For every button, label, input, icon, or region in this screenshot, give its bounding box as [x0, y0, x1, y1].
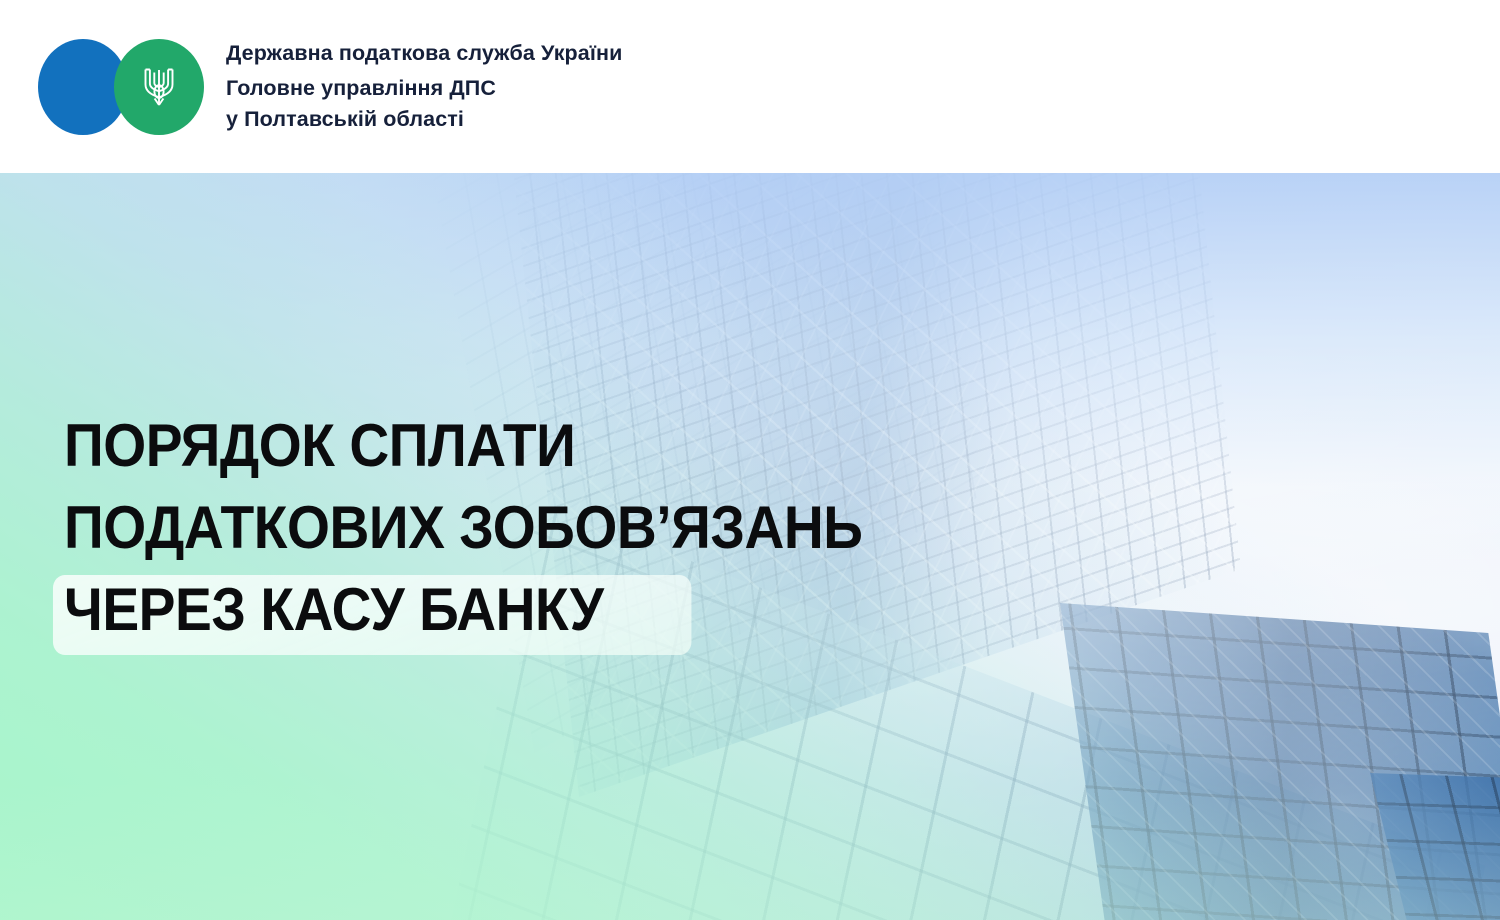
- hero-title-line-3: ЧЕРЕЗ КАСУ БАНКУ: [64, 576, 603, 643]
- hero-title: ПОРЯДОК СПЛАТИ ПОДАТКОВИХ ЗОБОВ’ЯЗАНЬ ЧЕ…: [64, 405, 932, 651]
- site-header: Державна податкова служба України Головн…: [0, 0, 1500, 173]
- organisation-line-3: у Полтавській області: [226, 104, 622, 135]
- poster-page: Державна податкова служба України Головн…: [0, 0, 1500, 920]
- trident-icon: [140, 64, 178, 110]
- organisation-name: Державна податкова служба України Головн…: [226, 38, 622, 135]
- organisation-line-2: Головне управління ДПС: [226, 73, 622, 104]
- hero-banner: ПОРЯДОК СПЛАТИ ПОДАТКОВИХ ЗОБОВ’ЯЗАНЬ ЧЕ…: [0, 173, 1500, 920]
- dps-logo[interactable]: [38, 39, 208, 135]
- hero-title-line-2: ПОДАТКОВИХ ЗОБОВ’ЯЗАНЬ: [64, 487, 863, 569]
- hero-title-line-1: ПОРЯДОК СПЛАТИ: [64, 405, 863, 487]
- organisation-line-1: Державна податкова служба України: [226, 38, 622, 69]
- hero-title-line-3-wrapper: ЧЕРЕЗ КАСУ БАНКУ: [64, 569, 603, 651]
- logo-green-circle-icon: [114, 39, 204, 135]
